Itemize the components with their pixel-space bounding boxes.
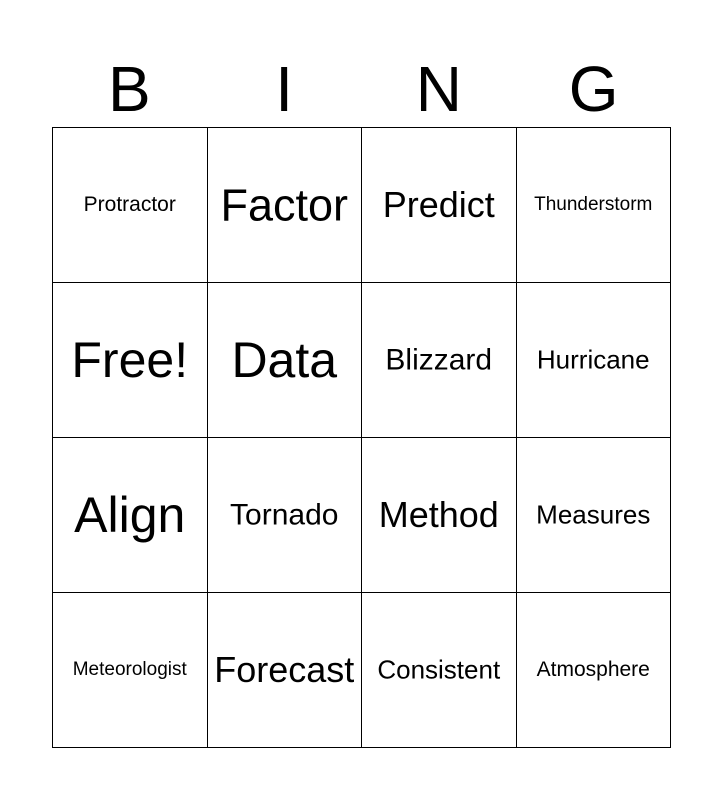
bingo-cell[interactable]: Data — [208, 283, 363, 438]
header-column-1: B — [52, 0, 207, 127]
bingo-cell[interactable]: Meteorologist — [53, 593, 208, 748]
bingo-cell[interactable]: Factor — [208, 128, 363, 283]
bingo-cell-label: Hurricane — [517, 346, 671, 373]
bingo-grid: ProtractorFactorPredictThunderstormFree!… — [52, 127, 671, 748]
bingo-cell-label: Data — [208, 334, 362, 387]
bingo-cell[interactable]: Protractor — [53, 128, 208, 283]
bingo-cell[interactable]: Forecast — [208, 593, 363, 748]
bingo-cell[interactable]: Thunderstorm — [517, 128, 672, 283]
header-letter-i: I — [275, 65, 293, 115]
bingo-cell[interactable]: Method — [362, 438, 517, 593]
bingo-cell-label: Method — [362, 496, 516, 534]
bingo-cell[interactable]: Atmosphere — [517, 593, 672, 748]
bingo-cell-label: Thunderstorm — [517, 195, 671, 215]
bingo-cell-label: Free! — [53, 334, 207, 387]
bingo-cell-label: Predict — [362, 186, 516, 224]
header-letter-b: B — [108, 65, 151, 115]
bingo-cell-label: Measures — [517, 501, 671, 528]
header-letter-n: N — [416, 65, 462, 115]
bingo-header: B I N G — [52, 0, 671, 127]
bingo-cell-label: Blizzard — [362, 344, 516, 376]
bingo-cell[interactable]: Tornado — [208, 438, 363, 593]
header-column-2: I — [207, 0, 362, 127]
bingo-cell-label: Protractor — [53, 194, 207, 216]
bingo-cell[interactable]: Consistent — [362, 593, 517, 748]
bingo-cell[interactable]: Predict — [362, 128, 517, 283]
header-letter-g: G — [569, 65, 619, 115]
bingo-cell[interactable]: Hurricane — [517, 283, 672, 438]
header-column-4: G — [516, 0, 671, 127]
bingo-cell[interactable]: Blizzard — [362, 283, 517, 438]
bingo-cell-label: Atmosphere — [517, 659, 671, 681]
bingo-cell-label: Align — [53, 489, 207, 542]
bingo-cell-label: Forecast — [208, 651, 362, 689]
bingo-card: B I N G ProtractorFactorPredictThunderst… — [52, 0, 671, 800]
bingo-cell[interactable]: Free! — [53, 283, 208, 438]
bingo-cell-label: Tornado — [208, 499, 362, 531]
bingo-cell-label: Meteorologist — [53, 660, 207, 680]
header-column-3: N — [362, 0, 517, 127]
bingo-cell-label: Factor — [208, 181, 362, 228]
bingo-cell[interactable]: Align — [53, 438, 208, 593]
bingo-cell[interactable]: Measures — [517, 438, 672, 593]
bingo-cell-label: Consistent — [362, 656, 516, 683]
